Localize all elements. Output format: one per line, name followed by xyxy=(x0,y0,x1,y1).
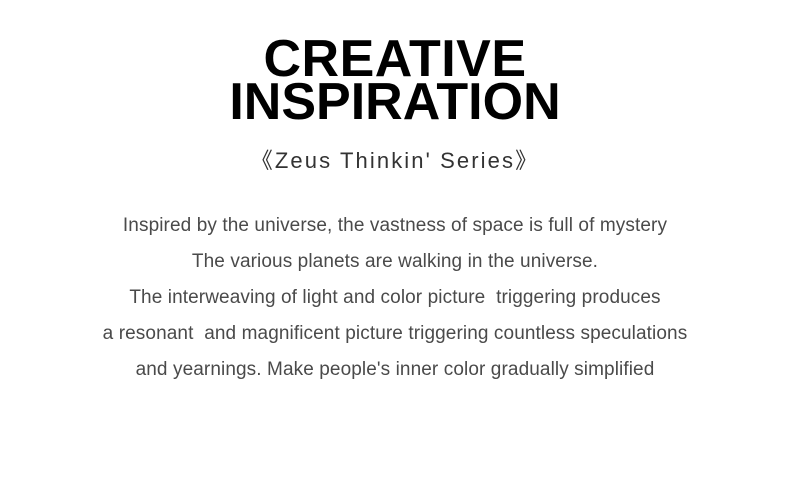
body-line: a resonant and magnificent picture trigg… xyxy=(0,316,790,352)
body-line: The interweaving of light and color pict… xyxy=(0,280,790,316)
body-line: and yearnings. Make people's inner color… xyxy=(0,352,790,388)
body-line: The various planets are walking in the u… xyxy=(0,244,790,280)
poster-canvas: CREATIVE INSPIRATION 《Zeus Thinkin' Seri… xyxy=(0,0,790,477)
body-line: Inspired by the universe, the vastness o… xyxy=(0,208,790,244)
body-paragraph: Inspired by the universe, the vastness o… xyxy=(0,208,790,388)
page-title-line-2: INSPIRATION xyxy=(229,81,560,124)
page-title: CREATIVE INSPIRATION xyxy=(229,38,560,124)
page-subtitle: 《Zeus Thinkin' Series》 xyxy=(251,147,539,175)
